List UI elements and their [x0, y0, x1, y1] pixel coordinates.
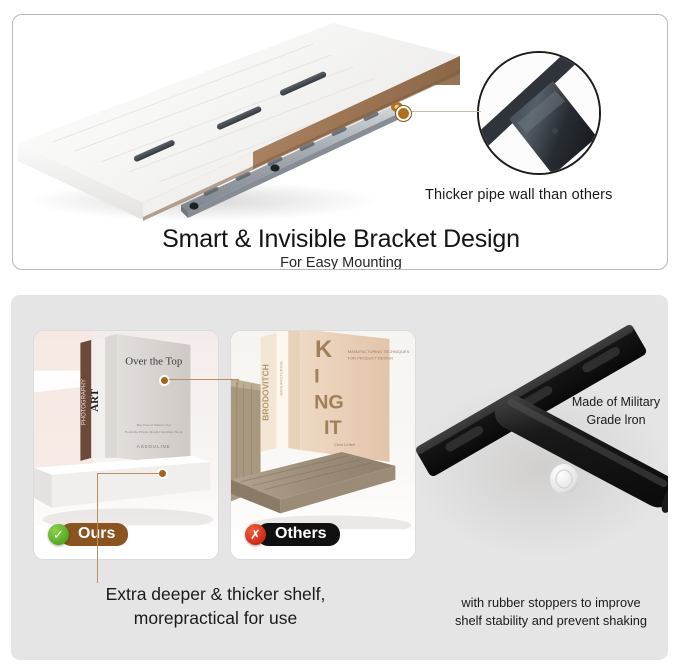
callout-line-rubber-vert: [97, 473, 98, 583]
infographic-root: Thicker pipe wall than others Smart & In…: [0, 0, 679, 668]
svg-text:The Uses of Nature Cleo: The Uses of Nature Cleo: [136, 423, 171, 427]
svg-text:PHOTOGRAPHY: PHOTOGRAPHY: [81, 379, 87, 425]
svg-text:FOR PRODUCT DESIGN: FOR PRODUCT DESIGN: [348, 356, 393, 361]
comparison-caption-line1: Extra deeper & thicker shelf,: [23, 583, 408, 607]
military-iron-caption: Made of Military Grade lron: [556, 393, 676, 429]
callout-line-rubber: [97, 473, 159, 474]
callout-line-military-vert: [237, 379, 238, 409]
badge-ours-label: Ours: [60, 523, 128, 546]
pipe-wall-zoom-circle: [477, 51, 601, 175]
badge-ours: ✓ Ours: [48, 523, 128, 545]
badge-others: ✗ Others: [245, 523, 340, 545]
t-bracket-drawing: [401, 295, 668, 589]
page-title: Smart & Invisible Bracket Design: [13, 225, 668, 254]
rubber-stoppers-line1: with rubber stoppers to improve: [425, 594, 677, 612]
rubber-stoppers-line2: shelf stability and prevent shaking: [425, 612, 677, 630]
callout-line-military: [169, 379, 239, 380]
svg-text:IT: IT: [324, 417, 342, 439]
svg-text:MANUFACTURING: MANUFACTURING: [278, 361, 283, 395]
rubber-stoppers-caption: with rubber stoppers to improve shelf st…: [425, 594, 677, 630]
svg-text:I: I: [314, 366, 320, 388]
callout-dot-military: [159, 375, 170, 386]
pipe-wall-zoom-drawing: [479, 53, 599, 173]
military-iron-line1: Made of Military: [556, 393, 676, 411]
svg-text:ASSOULINE: ASSOULINE: [137, 444, 171, 449]
svg-text:ART: ART: [89, 388, 101, 411]
svg-text:From the Private Room Christma: From the Private Room Christmas Stock: [125, 430, 183, 434]
shelf-illustration: [13, 15, 483, 230]
page-subtitle: For Easy Mounting: [13, 255, 668, 270]
military-iron-line2: Grade lron: [556, 411, 676, 429]
comparison-caption-line2: morepractical for use: [23, 607, 408, 631]
callout-marker-dot: [396, 106, 411, 121]
svg-text:Chris Lefteri: Chris Lefteri: [334, 442, 355, 447]
comparison-caption: Extra deeper & thicker shelf, morepracti…: [23, 583, 408, 630]
callout-leader-line: [403, 111, 481, 112]
svg-text:Over the Top: Over the Top: [125, 356, 183, 368]
check-icon: ✓: [48, 524, 69, 545]
photo-card-others: BRODOVITCH MANUFACTURING K I NG IT MANUF…: [230, 330, 416, 560]
svg-text:NG: NG: [314, 391, 344, 413]
bracket-design-panel: Thicker pipe wall than others Smart & In…: [12, 14, 668, 270]
thicker-pipe-caption: Thicker pipe wall than others: [425, 187, 612, 203]
photo-card-ours: PHOTOGRAPHY ART Over the Top The Uses of…: [33, 330, 219, 560]
svg-text:K: K: [315, 336, 332, 363]
shelf-drawing: [13, 15, 483, 230]
badge-others-label: Others: [257, 523, 340, 546]
t-bracket-illustration: [401, 295, 668, 589]
svg-text:BRODOVITCH: BRODOVITCH: [260, 364, 270, 421]
cross-icon: ✗: [245, 524, 266, 545]
